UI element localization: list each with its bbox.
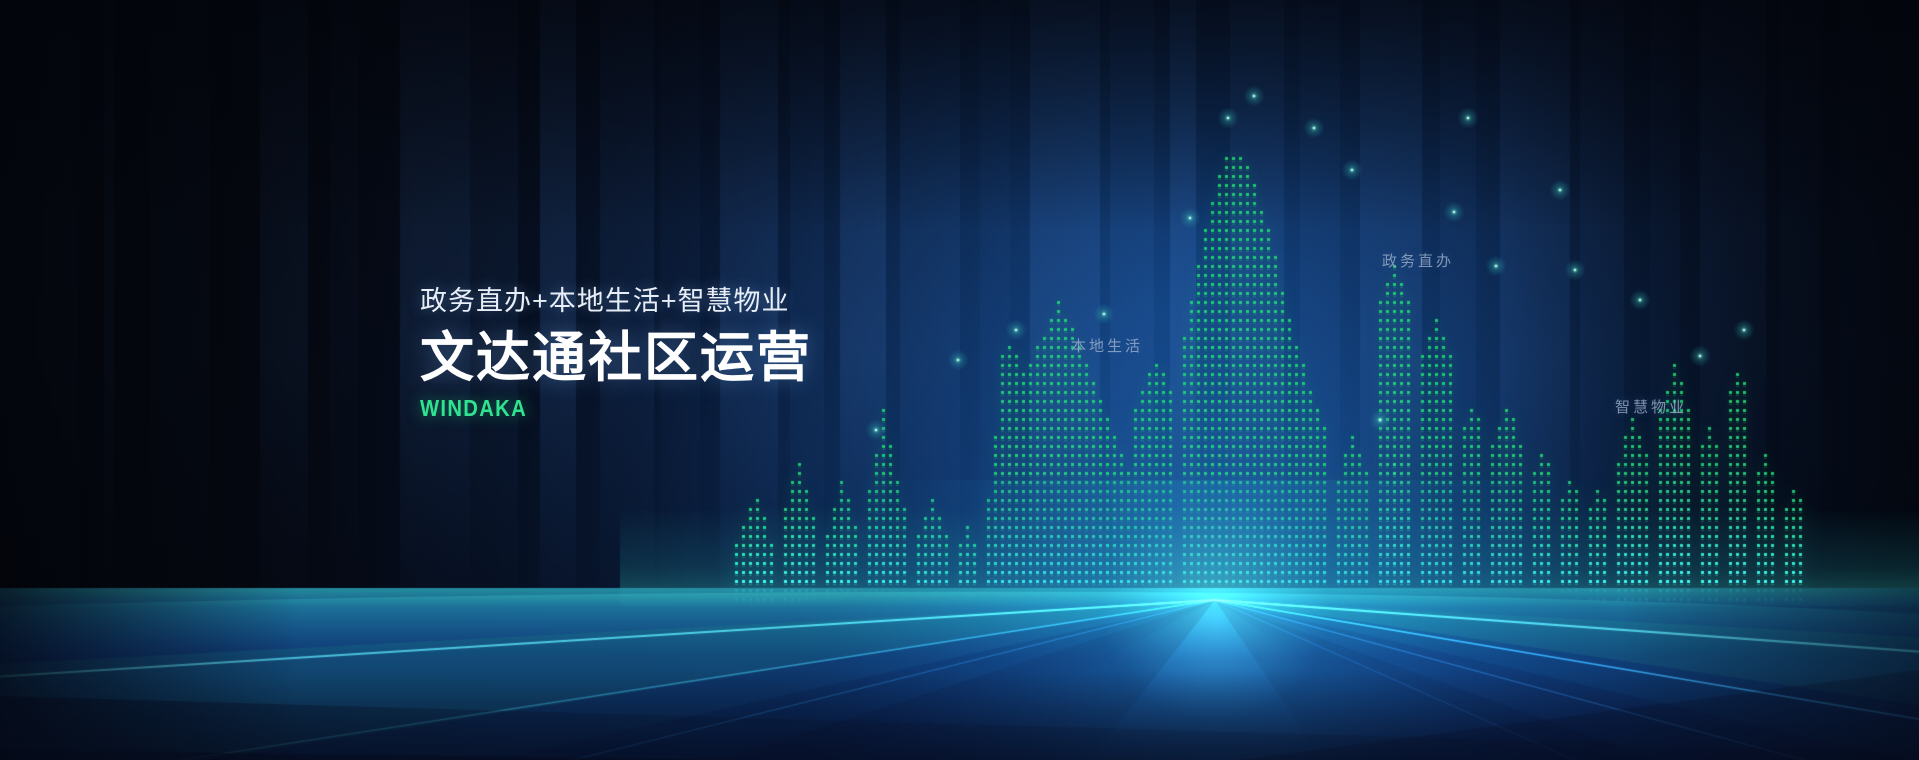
skyline-label-local-life: 本地生活 [1071, 335, 1143, 356]
skyline-label-smart-property: 智慧物业 [1615, 396, 1687, 417]
hero-title: 文达通社区运营 [420, 329, 812, 387]
perspective-floor-canvas [0, 0, 1919, 760]
banner-hero: 政务直办+本地生活+智慧物业 文达通社区运营 WINDAKA 本地生活 政务直办… [0, 0, 1919, 760]
hero-subtitle: 政务直办+本地生活+智慧物业 [420, 288, 812, 315]
brand-wordmark: WINDAKA [420, 397, 765, 420]
hero-text-block: 政务直办+本地生活+智慧物业 文达通社区运营 WINDAKA [420, 288, 812, 420]
skyline-label-government-service: 政务直办 [1382, 250, 1454, 271]
